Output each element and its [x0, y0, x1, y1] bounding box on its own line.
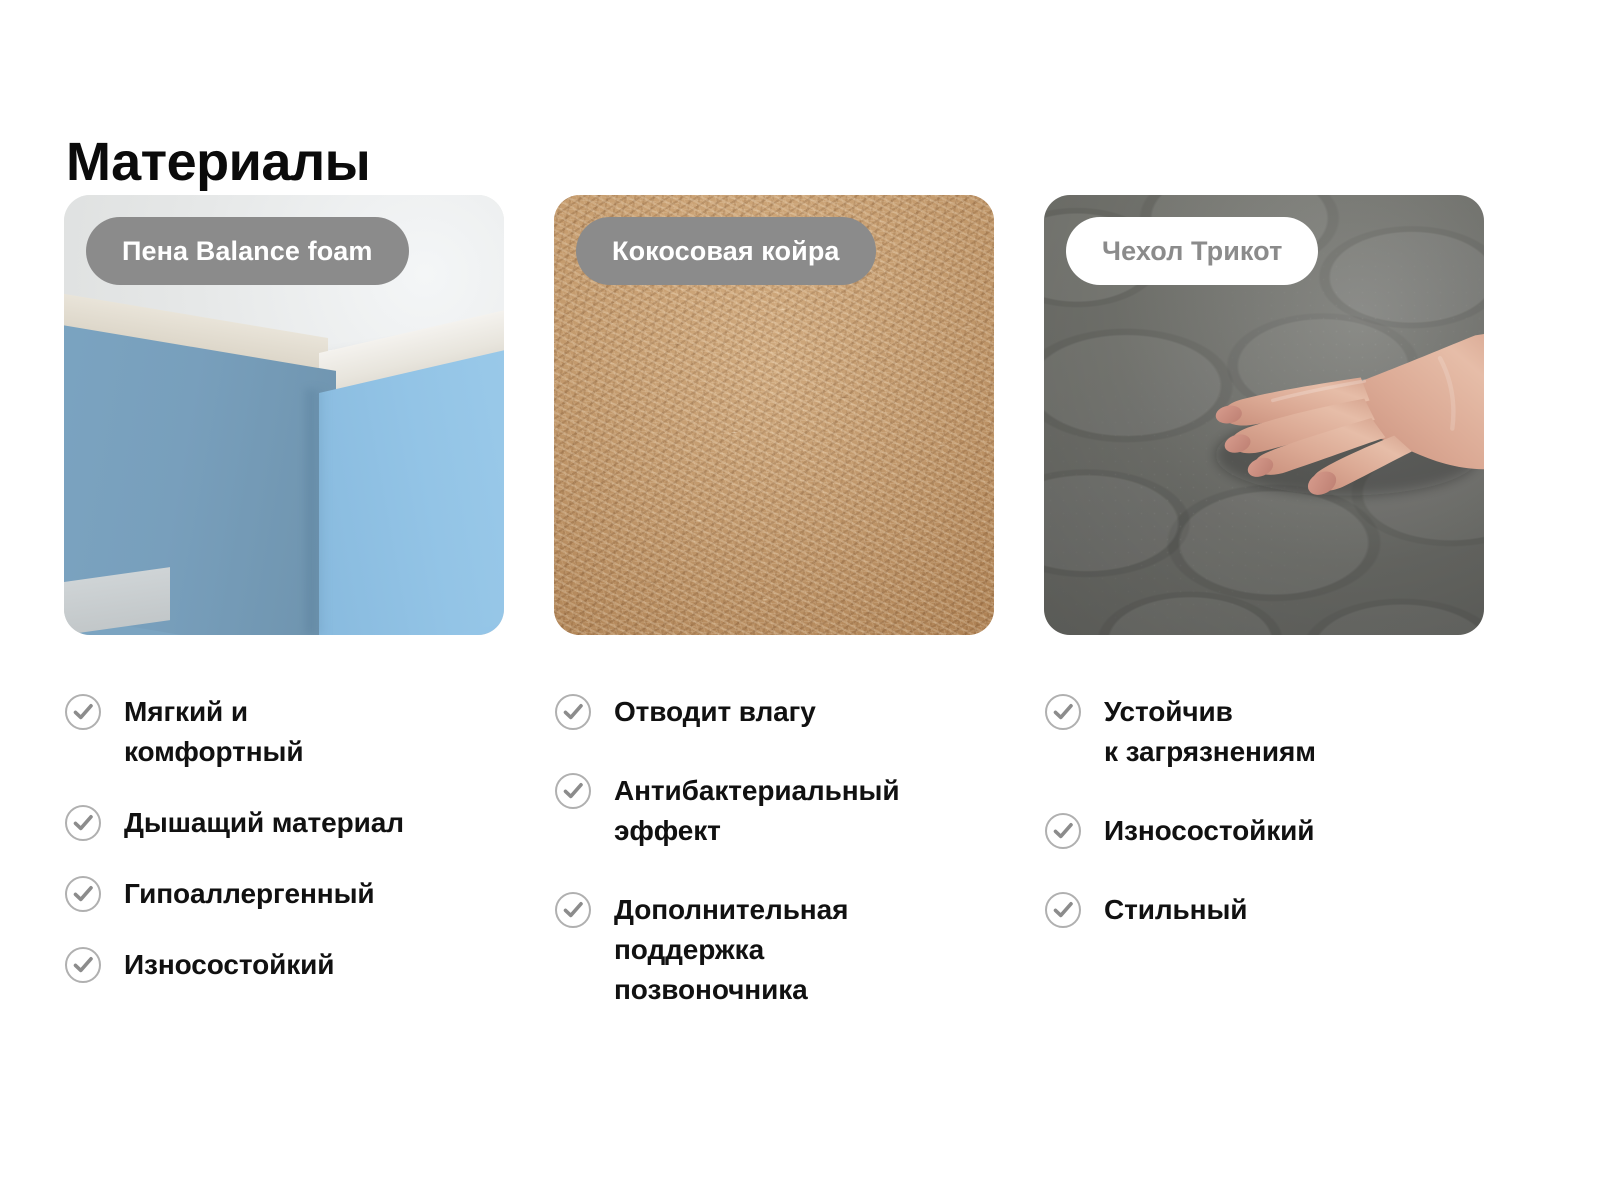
check-circle-icon [1044, 693, 1082, 731]
feature-item: Стильный [1044, 889, 1484, 930]
feature-label: Стильный [1104, 889, 1247, 930]
feature-item: Отводит влагу [554, 691, 994, 732]
check-circle-icon [554, 772, 592, 810]
materials-page: Материалы Пена Balance foam [0, 0, 1600, 1200]
feature-item: Износостойкий [1044, 810, 1484, 851]
feature-label: Отводит влагу [614, 691, 816, 732]
feature-item: Дышащий материал [64, 802, 504, 843]
material-column-foam: Пена Balance foam Мягкий и комфортный Ды… [64, 195, 504, 1048]
feature-label: Гипоаллергенный [124, 873, 375, 914]
material-badge-coir: Кокосовая койра [576, 217, 876, 285]
check-circle-icon [64, 804, 102, 842]
feature-list-foam: Мягкий и комфортный Дышащий материал Гип… [64, 691, 504, 1015]
materials-columns: Пена Balance foam Мягкий и комфортный Ды… [64, 195, 1536, 1048]
page-title: Материалы [66, 131, 370, 193]
check-circle-icon [64, 693, 102, 731]
hand-illustration [1176, 323, 1484, 508]
feature-label: Дополнительная поддержка позвоночника [614, 889, 848, 1010]
feature-item: Устойчив к загрязнениям [1044, 691, 1484, 772]
check-circle-icon [554, 693, 592, 731]
feature-item: Мягкий и комфортный [64, 691, 504, 772]
check-circle-icon [64, 875, 102, 913]
feature-item: Дополнительная поддержка позвоночника [554, 889, 994, 1010]
check-circle-icon [554, 891, 592, 929]
feature-label: Дышащий материал [124, 802, 404, 843]
material-card-coir[interactable]: Кокосовая койра [554, 195, 994, 635]
feature-item: Гипоаллергенный [64, 873, 504, 914]
feature-label: Устойчив к загрязнениям [1104, 691, 1316, 772]
check-circle-icon [1044, 812, 1082, 850]
material-column-coir: Кокосовая койра Отводит влагу Антибактер… [554, 195, 994, 1048]
material-column-cover: Чехол Трикот Устойчив к загрязнениям Изн… [1044, 195, 1484, 1048]
feature-label: Антибактериальный эффект [614, 770, 899, 851]
feature-list-cover: Устойчив к загрязнениям Износостойкий Ст… [1044, 691, 1484, 968]
material-card-cover[interactable]: Чехол Трикот [1044, 195, 1484, 635]
check-circle-icon [64, 946, 102, 984]
feature-item: Износостойкий [64, 944, 504, 985]
feature-item: Антибактериальный эффект [554, 770, 994, 851]
feature-label: Износостойкий [124, 944, 334, 985]
material-card-foam[interactable]: Пена Balance foam [64, 195, 504, 635]
feature-label: Мягкий и комфортный [124, 691, 303, 772]
material-badge-cover: Чехол Трикот [1066, 217, 1318, 285]
check-circle-icon [1044, 891, 1082, 929]
material-badge-foam: Пена Balance foam [86, 217, 409, 285]
feature-label: Износостойкий [1104, 810, 1314, 851]
foam-corner-shadow [306, 389, 328, 635]
feature-list-coir: Отводит влагу Антибактериальный эффект Д… [554, 691, 994, 1048]
